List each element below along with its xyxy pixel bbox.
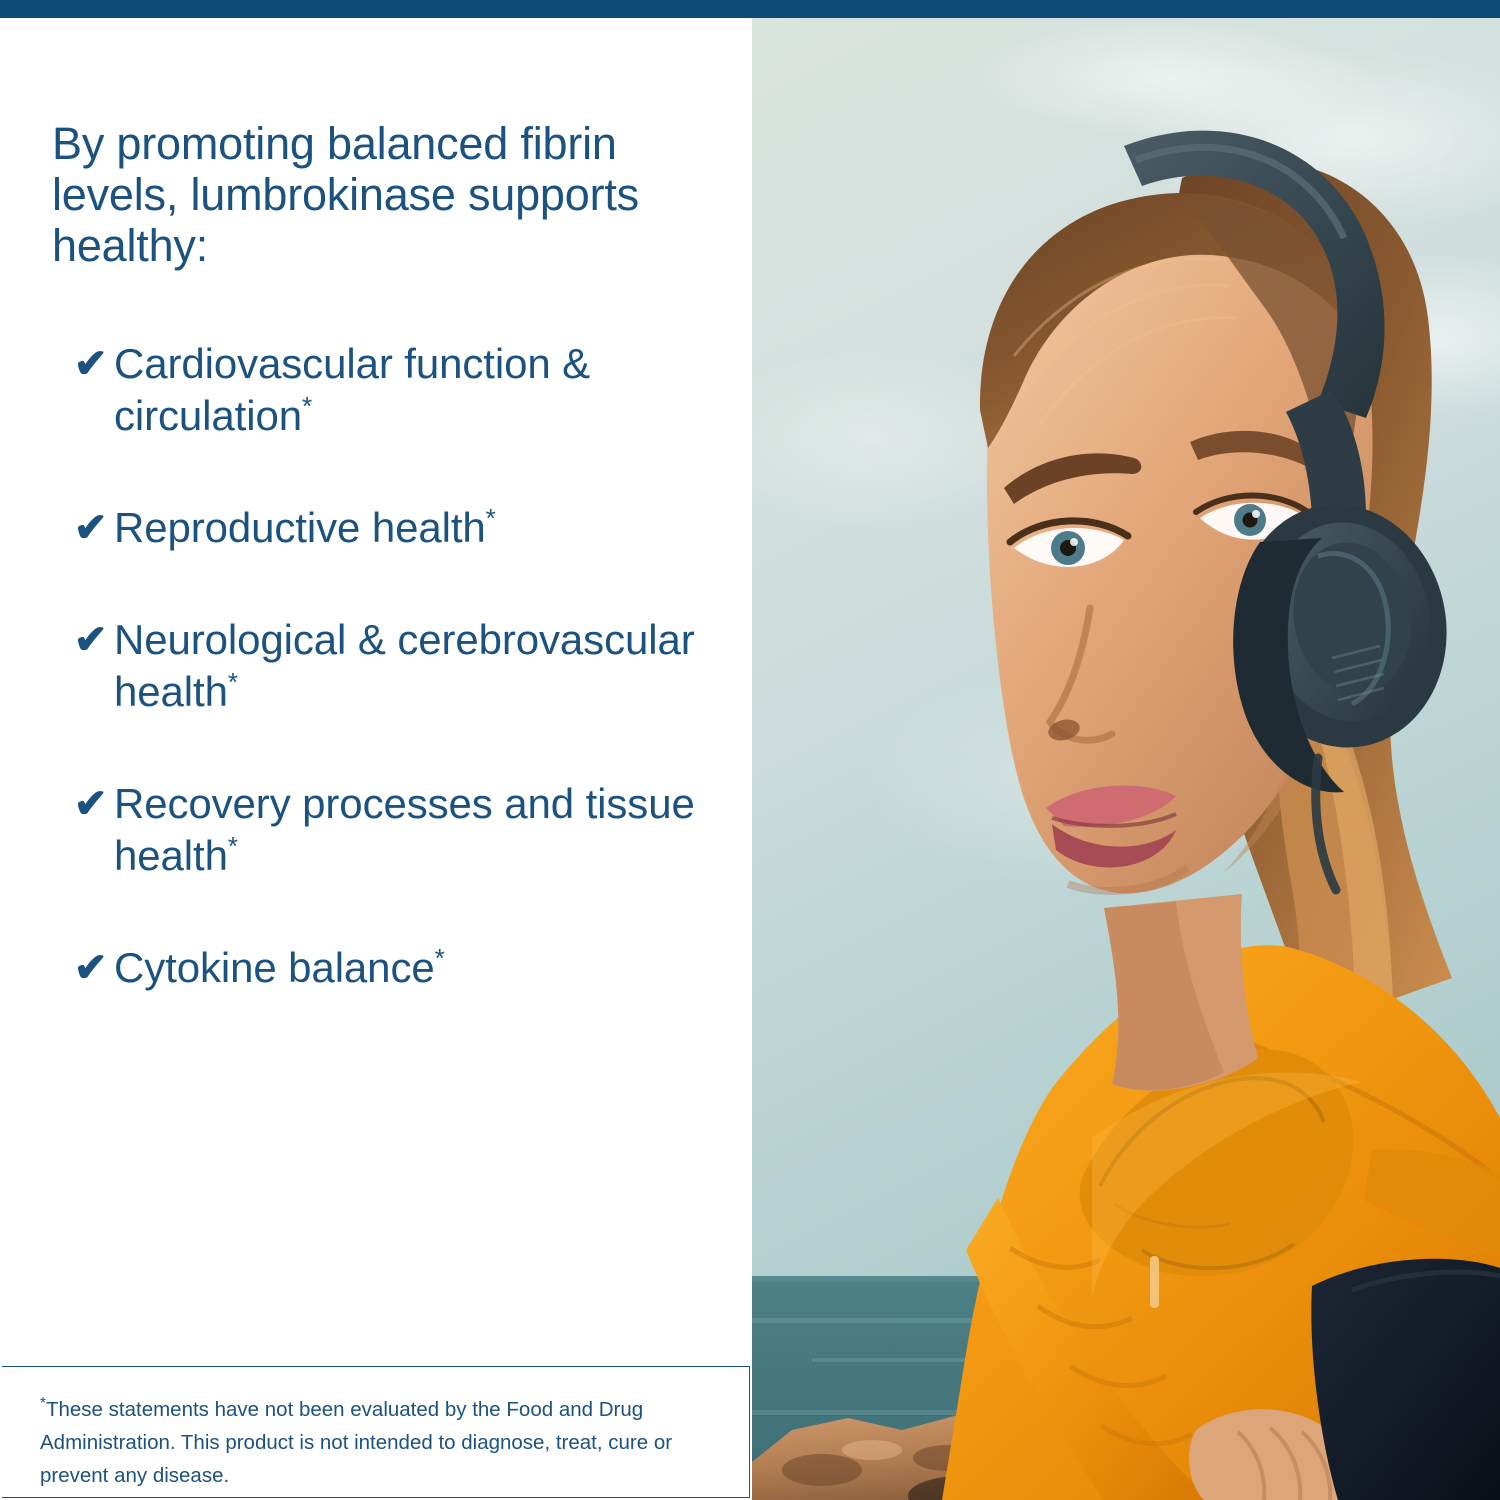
page-title: By promoting balanced fibrin levels, lum… bbox=[52, 118, 692, 271]
benefit-text-3: Recovery processes and tissue health bbox=[114, 780, 695, 879]
top-accent-bar bbox=[0, 0, 1500, 18]
check-icon: ✔ bbox=[52, 614, 114, 666]
benefit-text-2: Neurological & cerebrovascular health bbox=[114, 616, 695, 715]
hero-photo-illustration bbox=[752, 18, 1500, 1500]
list-item: ✔ Reproductive health* bbox=[52, 502, 712, 554]
product-benefits-panel: By promoting balanced fibrin levels, lum… bbox=[0, 0, 1500, 1500]
benefit-asterisk-0: * bbox=[302, 391, 312, 421]
benefit-label: Neurological & cerebrovascular health* bbox=[114, 614, 712, 718]
benefit-label: Cytokine balance* bbox=[114, 942, 712, 994]
check-icon: ✔ bbox=[52, 338, 114, 390]
benefits-list: ✔ Cardiovascular function & circulation*… bbox=[52, 338, 712, 994]
hero-photo bbox=[752, 18, 1500, 1500]
list-item: ✔ Cytokine balance* bbox=[52, 942, 712, 994]
benefit-asterisk-2: * bbox=[228, 667, 238, 697]
benefit-text-4: Cytokine balance bbox=[114, 944, 435, 991]
benefit-text-0: Cardiovascular function & circulation bbox=[114, 340, 590, 439]
benefit-label: Recovery processes and tissue health* bbox=[114, 778, 712, 882]
check-icon: ✔ bbox=[52, 778, 114, 830]
benefit-asterisk-4: * bbox=[435, 943, 445, 973]
check-icon: ✔ bbox=[52, 942, 114, 994]
list-item: ✔ Cardiovascular function & circulation* bbox=[52, 338, 712, 442]
disclaimer-box: *These statements have not been evaluate… bbox=[2, 1366, 750, 1498]
benefit-asterisk-3: * bbox=[228, 831, 238, 861]
benefit-asterisk-1: * bbox=[486, 503, 496, 533]
list-item: ✔ Recovery processes and tissue health* bbox=[52, 778, 712, 882]
left-content-panel: By promoting balanced fibrin levels, lum… bbox=[0, 18, 752, 1500]
benefit-text-1: Reproductive health bbox=[114, 504, 486, 551]
benefit-label: Cardiovascular function & circulation* bbox=[114, 338, 712, 442]
disclaimer-text: *These statements have not been evaluate… bbox=[40, 1393, 685, 1492]
benefit-label: Reproductive health* bbox=[114, 502, 712, 554]
check-icon: ✔ bbox=[52, 502, 114, 554]
list-item: ✔ Neurological & cerebrovascular health* bbox=[52, 614, 712, 718]
disclaimer-body: These statements have not been evaluated… bbox=[40, 1398, 672, 1487]
